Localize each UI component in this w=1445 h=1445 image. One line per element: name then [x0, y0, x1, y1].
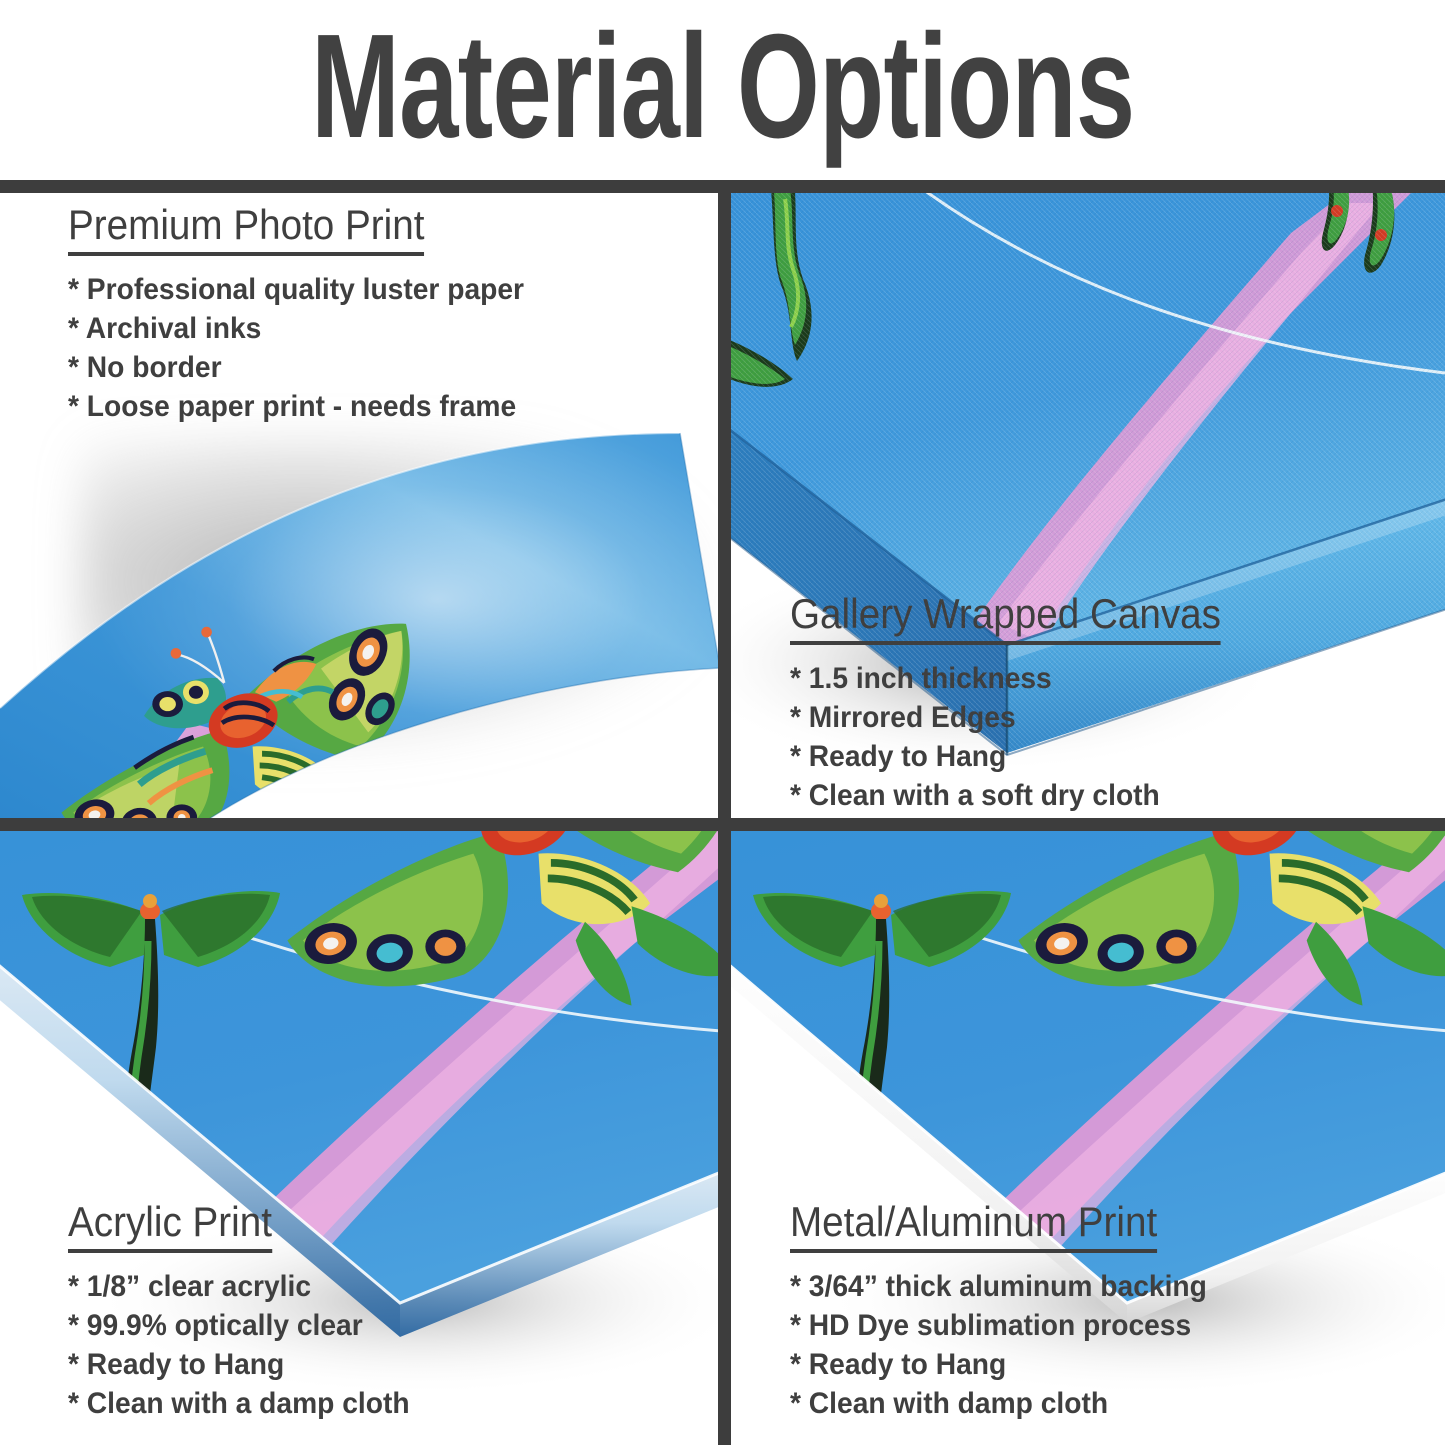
- heading-acrylic-print: Acrylic Print: [68, 1200, 272, 1253]
- bullets-metal-aluminum-print: * 3/64” thick aluminum backing * HD Dye …: [790, 1267, 1233, 1423]
- bullet-item: * Clean with a soft dry cloth: [790, 776, 1230, 815]
- bullet-item: * Clean with a damp cloth: [68, 1384, 410, 1423]
- material-options-page: Material Options: [0, 0, 1445, 1445]
- bullet-item: * 1.5 inch thickness: [790, 659, 1230, 698]
- heading-premium-photo-print: Premium Photo Print: [68, 203, 424, 256]
- bullet-item: * No border: [68, 348, 524, 387]
- bullet-item: * Archival inks: [68, 309, 524, 348]
- bullet-item: * 99.9% optically clear: [68, 1306, 410, 1345]
- page-title: Material Options: [311, 13, 1134, 161]
- bullet-item: * 3/64” thick aluminum backing: [790, 1267, 1207, 1306]
- page-title-bar: Material Options: [0, 0, 1445, 180]
- bullet-item: * Ready to Hang: [790, 1345, 1207, 1384]
- bullet-item: * Loose paper print - needs frame: [68, 387, 524, 426]
- info-block-acrylic-print: Acrylic Print * 1/8” clear acrylic * 99.…: [68, 1200, 431, 1423]
- info-block-metal-aluminum-print: Metal/Aluminum Print * 3/64” thick alumi…: [790, 1200, 1233, 1423]
- bullet-item: * Ready to Hang: [68, 1345, 410, 1384]
- divider-vertical: [718, 180, 731, 1445]
- bullet-item: * Professional quality luster paper: [68, 270, 524, 309]
- info-block-gallery-wrapped-canvas: Gallery Wrapped Canvas * 1.5 inch thickn…: [790, 592, 1258, 815]
- heading-metal-aluminum-print: Metal/Aluminum Print: [790, 1200, 1157, 1253]
- bullets-gallery-wrapped-canvas: * 1.5 inch thickness * Mirrored Edges * …: [790, 659, 1258, 815]
- bullet-item: * Mirrored Edges: [790, 698, 1230, 737]
- bullets-premium-photo-print: * Professional quality luster paper * Ar…: [68, 270, 553, 426]
- bullets-acrylic-print: * 1/8” clear acrylic * 99.9% optically c…: [68, 1267, 431, 1423]
- photo-print-image: [0, 423, 718, 818]
- bullet-item: * Clean with damp cloth: [790, 1384, 1207, 1423]
- bullet-item: * Ready to Hang: [790, 737, 1230, 776]
- heading-gallery-wrapped-canvas: Gallery Wrapped Canvas: [790, 592, 1221, 645]
- bullet-item: * HD Dye sublimation process: [790, 1306, 1207, 1345]
- bullet-item: * 1/8” clear acrylic: [68, 1267, 410, 1306]
- info-block-premium-photo-print: Premium Photo Print * Professional quali…: [68, 203, 553, 426]
